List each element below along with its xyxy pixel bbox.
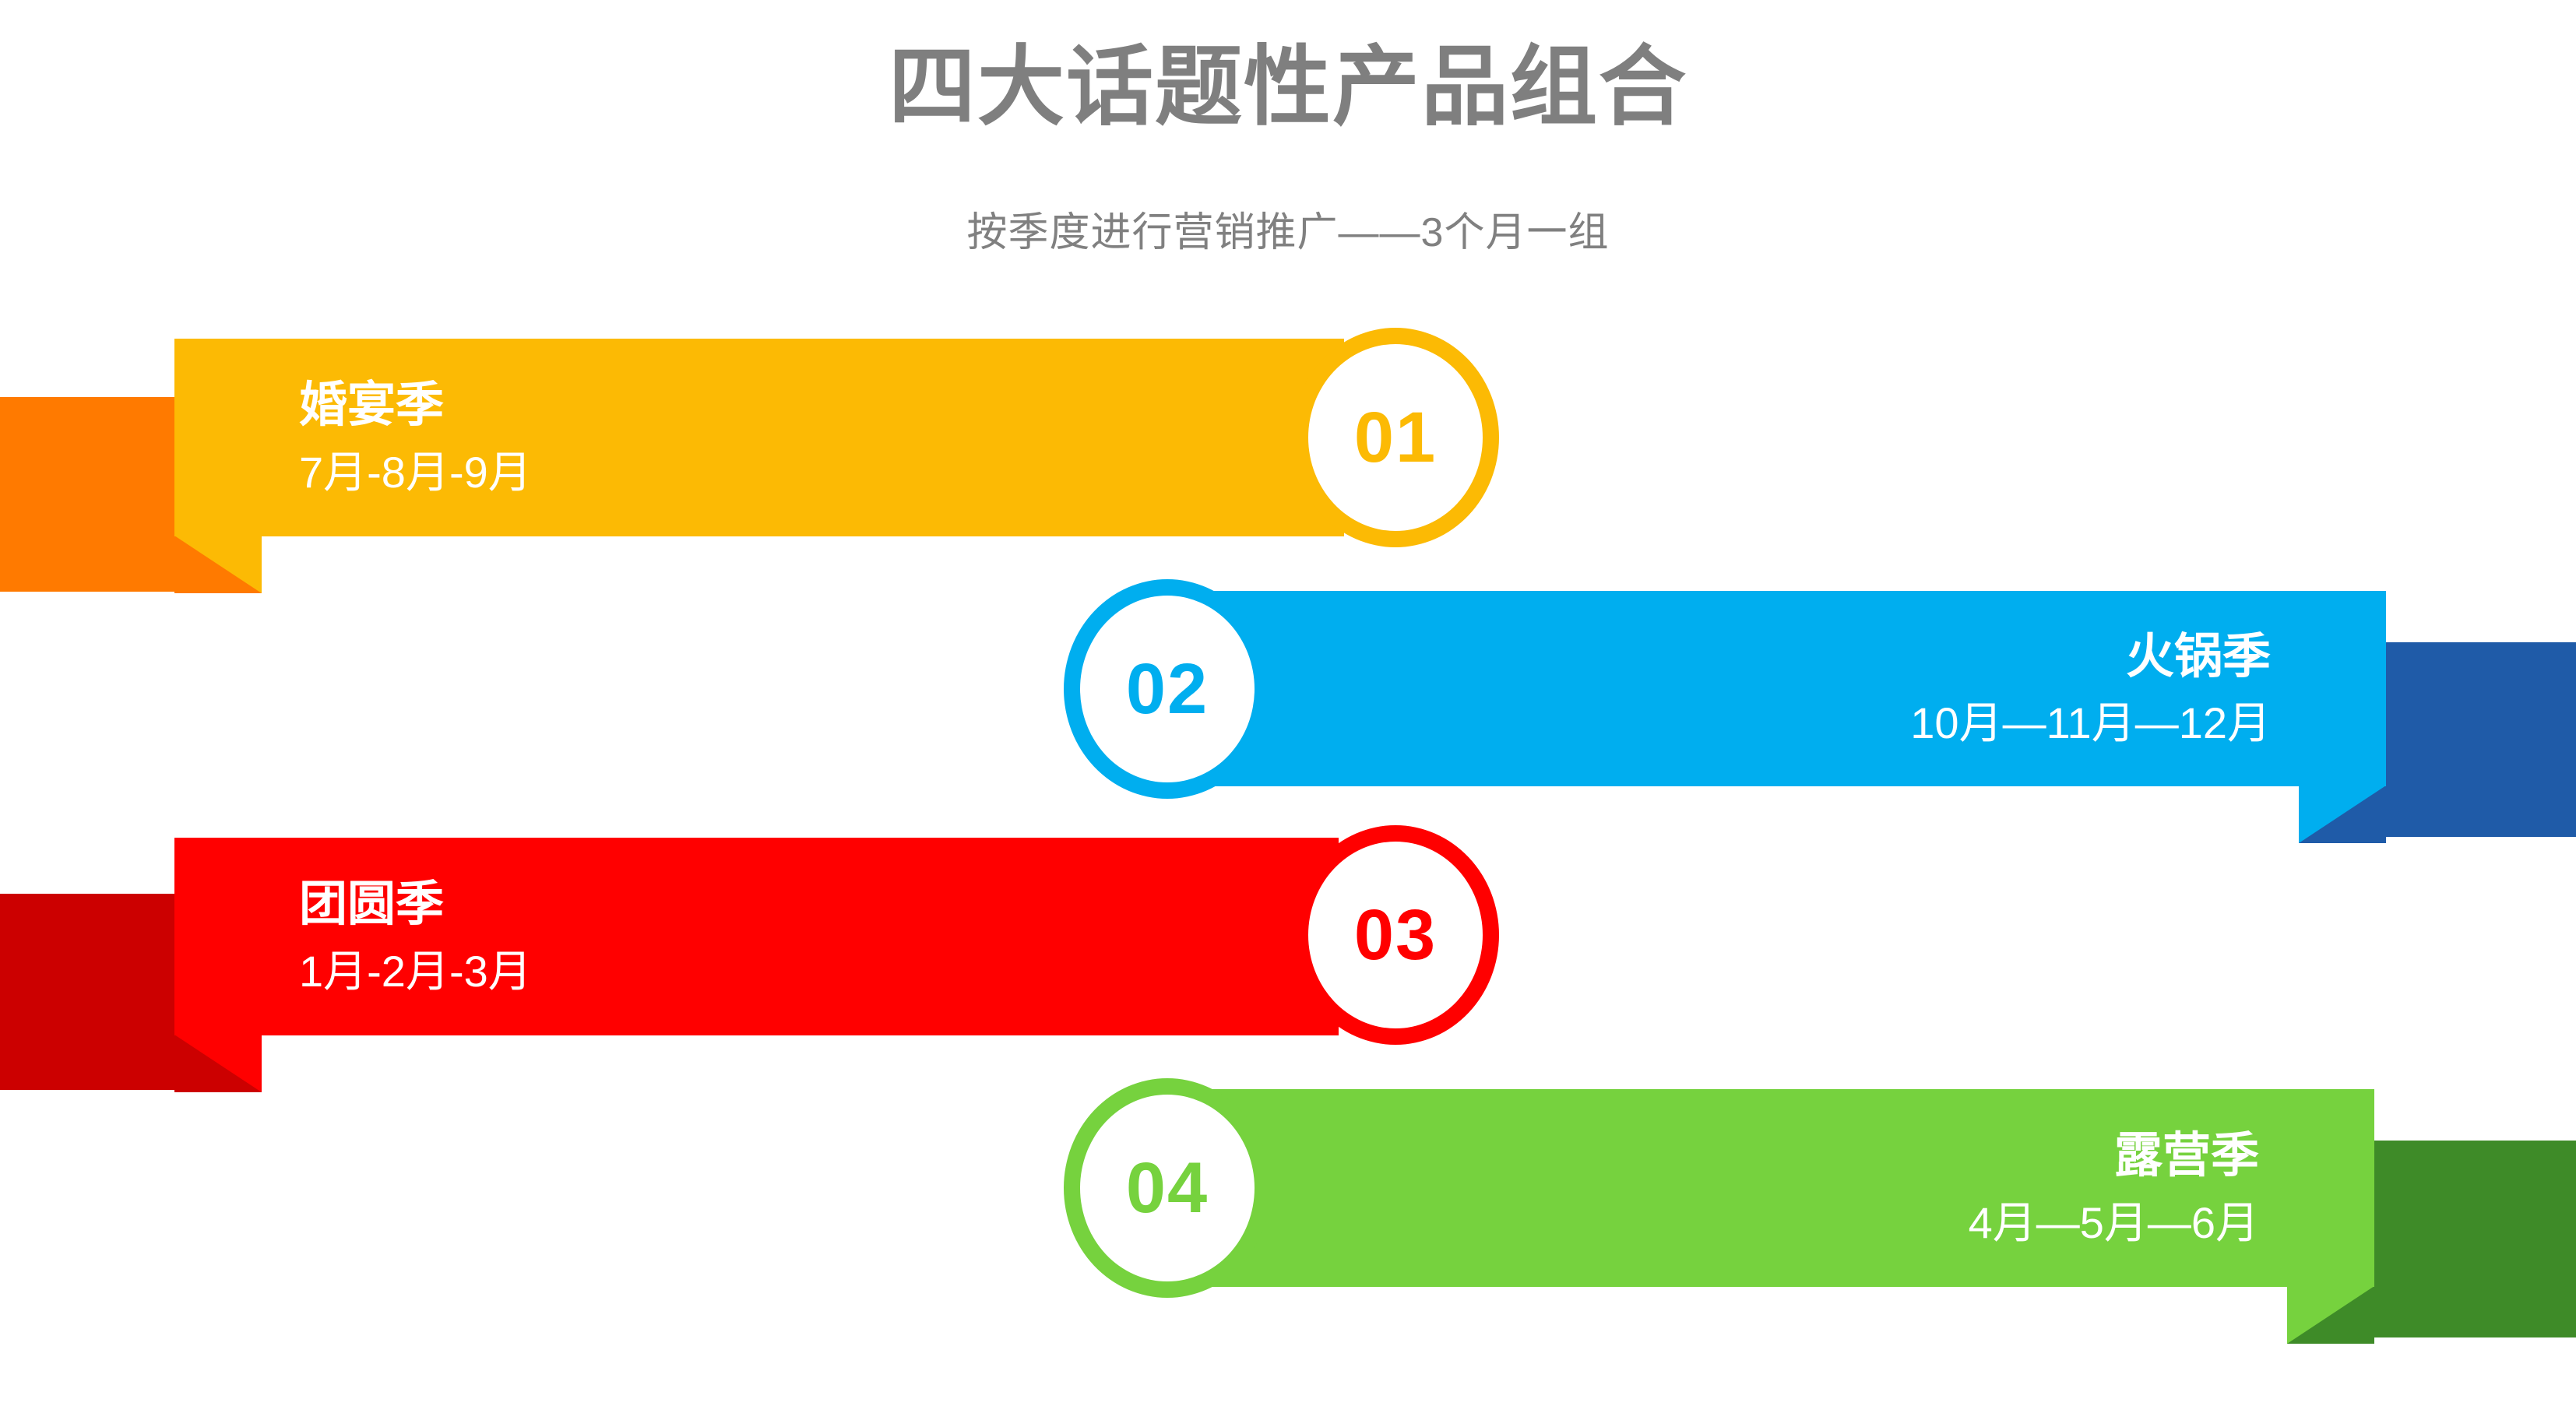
ribbon-03-band: 团圆季 1月-2月-3月 <box>174 838 1339 1035</box>
ribbon-01-months: 7月-8月-9月 <box>299 447 532 498</box>
ribbon-03-season: 团圆季 <box>299 876 444 933</box>
ribbon-03-tail <box>0 894 176 1090</box>
ribbon-03-text: 团圆季 1月-2月-3月 <box>299 838 532 1035</box>
ribbon-01-badge[interactable]: 01 <box>1292 328 1499 547</box>
ribbon-02-text: 火锅季 10月—11月—12月 <box>1910 591 2271 786</box>
ribbon-02-band: 火锅季 10月—11月—12月 <box>1133 591 2386 786</box>
ribbon-01-fold <box>174 536 262 593</box>
ribbon-04-badge[interactable]: 04 <box>1064 1078 1271 1298</box>
ribbon-04-band: 露营季 4月—5月—6月 <box>1133 1089 2374 1287</box>
ribbon-01-text: 婚宴季 7月-8月-9月 <box>299 339 532 536</box>
ribbon-04-season: 露营季 <box>2114 1127 2259 1184</box>
ribbon-01-number: 01 <box>1354 397 1437 479</box>
ribbon-02-number: 02 <box>1126 649 1209 730</box>
page-title: 四大话题性产品组合 <box>0 37 2576 138</box>
ribbon-03-number: 03 <box>1354 895 1437 976</box>
ribbon-02-months: 10月—11月—12月 <box>1910 698 2271 749</box>
ribbon-03-badge[interactable]: 03 <box>1292 825 1499 1045</box>
ribbon-04-tail <box>2374 1141 2576 1337</box>
ribbon-01-tail <box>0 397 176 592</box>
ribbon-01-season: 婚宴季 <box>299 377 444 434</box>
slide-canvas: 四大话题性产品组合 按季度进行营销推广——3个月一组 婚宴季 7月-8月-9月 … <box>0 0 2576 1406</box>
ribbon-02-fold <box>2299 786 2386 843</box>
ribbon-02-season: 火锅季 <box>2126 628 2271 685</box>
page-subtitle: 按季度进行营销推广——3个月一组 <box>0 209 2576 257</box>
ribbon-02-badge[interactable]: 02 <box>1064 579 1271 799</box>
ribbon-04-text: 露营季 4月—5月—6月 <box>1969 1089 2259 1287</box>
ribbon-03-months: 1月-2月-3月 <box>299 946 532 997</box>
ribbon-03-fold <box>174 1035 262 1092</box>
ribbon-04-months: 4月—5月—6月 <box>1969 1197 2259 1249</box>
ribbon-02-tail <box>2386 642 2576 837</box>
ribbon-04-number: 04 <box>1126 1148 1209 1229</box>
ribbon-01-band: 婚宴季 7月-8月-9月 <box>174 339 1344 536</box>
ribbon-04-fold <box>2287 1286 2374 1344</box>
